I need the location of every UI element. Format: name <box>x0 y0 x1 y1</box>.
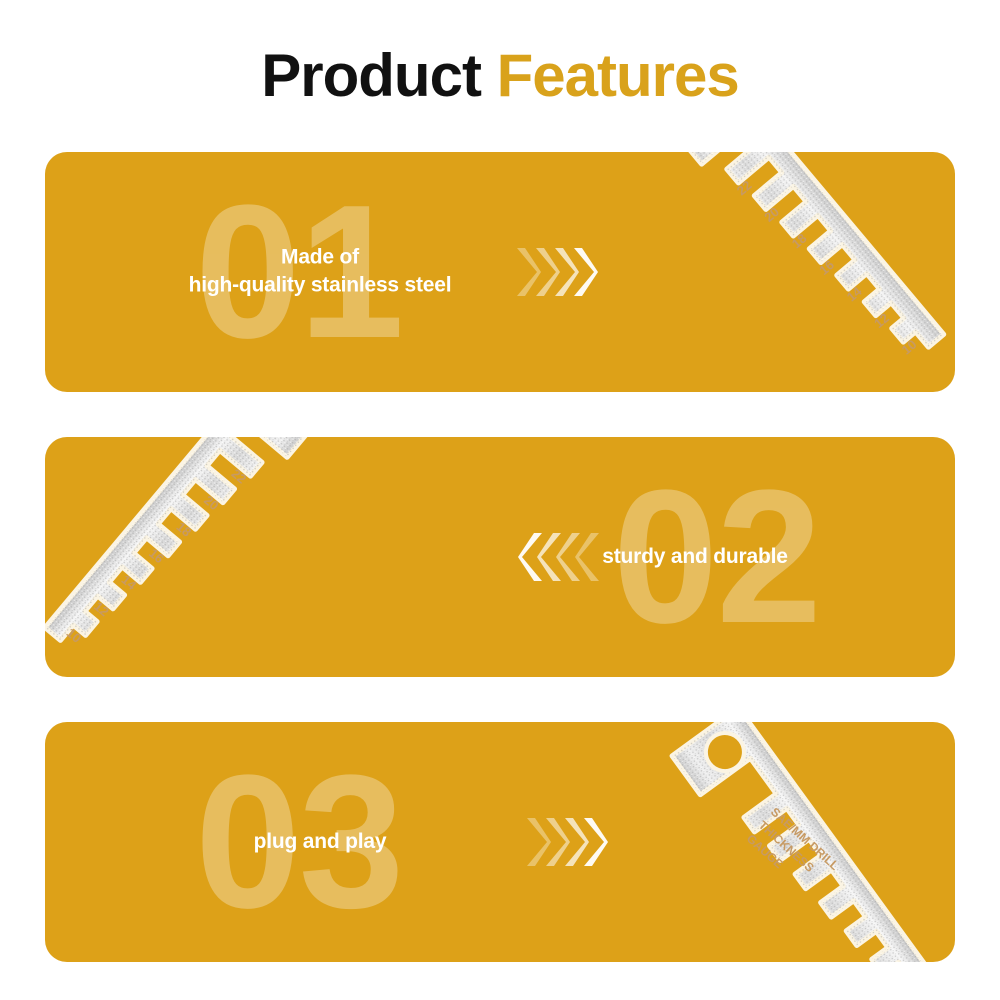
svg-text:10: 10 <box>899 337 920 358</box>
page-title-primary: Product <box>261 42 496 109</box>
feature-card-02[interactable]: 02 sturdy and durable <box>45 437 955 677</box>
chevron-group-left-02 <box>525 531 601 583</box>
svg-text:20: 20 <box>201 492 222 513</box>
svg-text:12: 12 <box>91 599 112 620</box>
chevron-group-right-01 <box>515 246 591 298</box>
feature-card-list: 01 Made of high-quality stainless steel <box>0 152 1000 962</box>
page-title-accent: Features <box>497 42 739 109</box>
svg-text:14: 14 <box>844 283 865 304</box>
svg-text:18: 18 <box>789 231 810 252</box>
chevron-group-right-03 <box>525 816 601 868</box>
step-gauge-handle-icon: SAE/MM DRILL THICKNESS GAUGE <box>635 722 955 962</box>
svg-text:20: 20 <box>761 204 782 225</box>
chevron-right-icon <box>572 246 598 298</box>
step-gauge-blade-icon: 10 12 14 16 18 20 22 <box>45 437 325 677</box>
svg-text:GAUGE: GAUGE <box>744 831 786 871</box>
svg-text:22: 22 <box>734 177 755 198</box>
svg-text:22: 22 <box>229 466 250 487</box>
svg-text:16: 16 <box>146 545 167 566</box>
feature-caption-03: plug and play <box>155 828 485 856</box>
step-gauge-blade-icon: 10 12 14 16 18 20 22 <box>665 152 955 392</box>
chevron-right-icon <box>582 816 608 868</box>
feature-caption-01: Made of high-quality stainless steel <box>155 244 485 301</box>
svg-text:14: 14 <box>119 572 140 593</box>
page-title: Product Features <box>261 46 738 106</box>
svg-text:THICKNESS: THICKNESS <box>756 818 817 875</box>
svg-text:12: 12 <box>871 310 892 331</box>
feature-card-01[interactable]: 01 Made of high-quality stainless steel <box>45 152 955 392</box>
svg-text:16: 16 <box>816 257 837 278</box>
svg-text:10: 10 <box>64 625 85 646</box>
feature-card-03[interactable]: 03 plug and play <box>45 722 955 962</box>
page-header: Product Features <box>0 0 1000 152</box>
svg-text:SAE/MM DRILL: SAE/MM DRILL <box>768 805 842 873</box>
chevron-left-icon <box>518 531 544 583</box>
svg-text:18: 18 <box>174 519 195 540</box>
